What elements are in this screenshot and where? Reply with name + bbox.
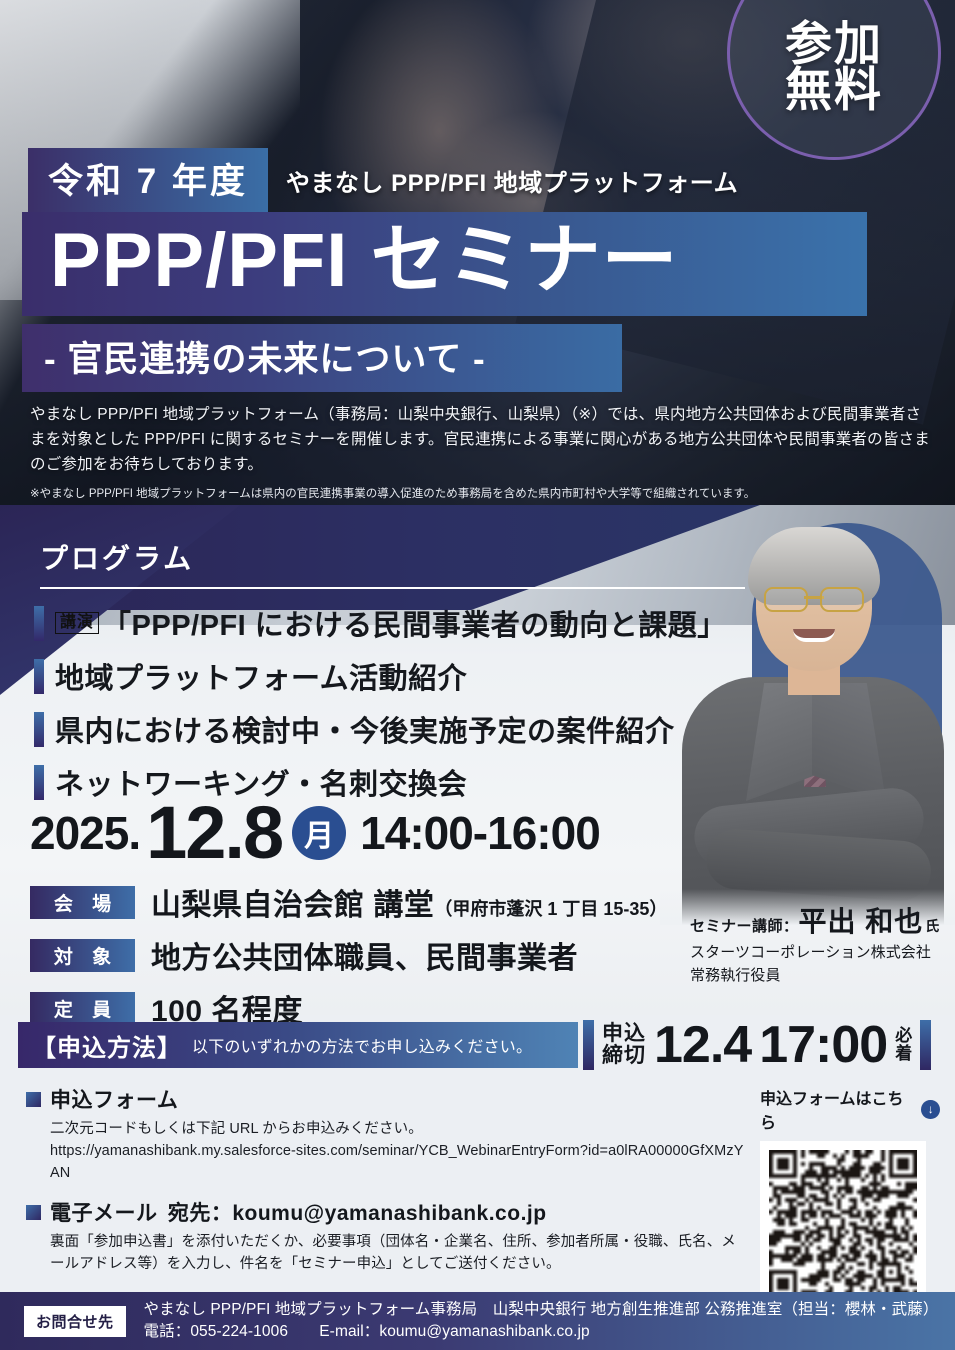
program-item-label: 県内における検討中・今後実施予定の案件紹介 bbox=[55, 708, 675, 750]
intro-block: やまなし PPP/PFI 地域プラットフォーム（事務局：山梨中央銀行、山梨県）（… bbox=[30, 402, 930, 502]
method-body: 二次元コードもしくは下記 URL からお申込みください。 https://yam… bbox=[50, 1119, 746, 1184]
program-item: 県内における検討中・今後実施予定の案件紹介 bbox=[34, 707, 734, 751]
method-description: 二次元コードもしくは下記 URL からお申込みください。 bbox=[50, 1119, 746, 1141]
speaker-name-row: セミナー講師： 平出 和也 氏 bbox=[690, 900, 955, 940]
speaker-name-suffix: 氏 bbox=[925, 916, 939, 936]
speaker-name: 平出 和也 bbox=[799, 900, 924, 940]
era-chip: 令和 7 年度 bbox=[28, 148, 268, 212]
square-bullet-icon bbox=[26, 1205, 41, 1220]
deadline-accent-right bbox=[920, 1020, 931, 1070]
speaker-label: セミナー講師： bbox=[690, 915, 799, 936]
poster-root: 参加 無料 令和 7 年度 やまなし PPP/PFI 地域プラットフォーム PP… bbox=[0, 0, 955, 1350]
glasses-icon bbox=[764, 587, 864, 609]
info-row-audience: 対 象 地方公共団体職員、民間事業者 bbox=[30, 933, 667, 977]
deadline-block: 申込 締切 12.4 17:00 必 着 bbox=[583, 1016, 931, 1074]
bullet-bar bbox=[34, 712, 44, 747]
apply-method-form: 申込フォーム 二次元コードもしくは下記 URL からお申込みください。 http… bbox=[26, 1084, 746, 1184]
program-item: 講演 「PPP/PFI における民間事業者の動向と課題」 bbox=[34, 601, 734, 645]
intro-footnote: ※やまなし PPP/PFI 地域プラットフォームは県内の官民連携事業の導入促進の… bbox=[30, 486, 930, 502]
event-day-of-week: 月 bbox=[292, 806, 346, 860]
info-row-venue: 会 場 山梨県自治会館 講堂（甲府市蓬沢 1 丁目 15-35） bbox=[30, 880, 667, 924]
deadline-time: 17:00 bbox=[759, 1015, 887, 1075]
info-value: 地方公共団体職員、民間事業者 bbox=[151, 933, 578, 977]
organizer-line: やまなし PPP/PFI 地域プラットフォーム bbox=[286, 163, 738, 198]
qr-canvas bbox=[769, 1150, 917, 1298]
qr-label-text: 申込フォームはこちら bbox=[760, 1085, 916, 1133]
contact-line-2: 電話：055-224-1006 E-mail：koumu@yamanashiba… bbox=[144, 1321, 939, 1343]
bullet-bar bbox=[34, 765, 44, 800]
page-title: PPP/PFI セミナー bbox=[22, 212, 867, 316]
speaker-position: 常務執行役員 bbox=[690, 966, 955, 986]
method-title: 電子メール 宛先：koumu@yamanashibank.co.jp bbox=[50, 1197, 547, 1227]
venue-name: 山梨県自治会館 講堂 bbox=[151, 889, 434, 922]
event-datetime: 2025. 12.8 月 14:00-16:00 bbox=[30, 800, 600, 867]
deadline-accent-left bbox=[583, 1020, 594, 1070]
apply-subheading: 以下のいずれかの方法でお申し込みください。 bbox=[192, 1033, 532, 1057]
page-subtitle: - 官民連携の未来について - bbox=[22, 324, 622, 392]
program-item-text: 講演 「PPP/PFI における民間事業者の動向と課題」 bbox=[55, 602, 727, 644]
method-header: 電子メール 宛先：koumu@yamanashibank.co.jp bbox=[26, 1197, 746, 1227]
info-value: 山梨県自治会館 講堂（甲府市蓬沢 1 丁目 15-35） bbox=[151, 880, 667, 924]
contact-chip: お問合せ先 bbox=[24, 1306, 126, 1337]
program-list: 講演 「PPP/PFI における民間事業者の動向と課題」 地域プラットフォーム活… bbox=[34, 601, 734, 813]
intro-paragraph: やまなし PPP/PFI 地域プラットフォーム（事務局：山梨中央銀行、山梨県）（… bbox=[30, 402, 930, 477]
info-label: 対 象 bbox=[30, 939, 135, 972]
speaker-caption: セミナー講師： 平出 和也 氏 スターツコーポレーション株式会社 常務執行役員 bbox=[690, 900, 955, 986]
method-title-label: 電子メール bbox=[50, 1202, 158, 1225]
badge-line-2: 無料 bbox=[785, 63, 883, 116]
program-item-label: 地域プラットフォーム活動紹介 bbox=[55, 655, 467, 697]
method-header: 申込フォーム bbox=[26, 1084, 746, 1114]
free-admission-text: 参加 無料 bbox=[785, 21, 883, 157]
method-body: 裏面「参加申込書」を添付いただくか、必要事項（団体名・企業名、住所、参加者所属・… bbox=[50, 1232, 746, 1276]
info-label: 定 員 bbox=[30, 992, 135, 1025]
bullet-bar bbox=[34, 606, 44, 641]
speaker-smile bbox=[793, 629, 835, 642]
era-row: 令和 7 年度 やまなし PPP/PFI 地域プラットフォーム bbox=[28, 148, 738, 212]
deadline-label-line2: 締切 bbox=[602, 1044, 646, 1067]
event-time: 14:00-16:00 bbox=[360, 806, 600, 860]
apply-method-bar: 【申込方法】 以下のいずれかの方法でお申し込みください。 bbox=[18, 1022, 578, 1068]
program-heading: プログラム bbox=[40, 537, 194, 577]
venue-address: （甲府市蓬沢 1 丁目 15-35） bbox=[434, 899, 667, 919]
deadline-label-line1: 申込 bbox=[602, 1022, 646, 1045]
contact-footer: お問合せ先 やまなし PPP/PFI 地域プラットフォーム事務局 山梨中央銀行 … bbox=[0, 1292, 955, 1350]
program-item-label: 「PPP/PFI における民間事業者の動向と課題」 bbox=[102, 602, 727, 644]
apply-heading: 【申込方法】 bbox=[32, 1028, 182, 1063]
method-title: 申込フォーム bbox=[50, 1084, 178, 1114]
contact-text: やまなし PPP/PFI 地域プラットフォーム事務局 山梨中央銀行 地方創生推進… bbox=[144, 1299, 939, 1344]
deadline-label: 申込 締切 bbox=[602, 1023, 646, 1067]
must-line2: 着 bbox=[895, 1044, 912, 1063]
info-label: 会 場 bbox=[30, 886, 135, 919]
program-item: ネットワーキング・名刺交換会 bbox=[34, 760, 734, 804]
program-divider bbox=[40, 587, 745, 589]
arrow-down-icon: ↓ bbox=[921, 1100, 940, 1119]
qr-block: 申込フォームはこちら ↓ bbox=[760, 1085, 940, 1307]
apply-method-email: 電子メール 宛先：koumu@yamanashibank.co.jp 裏面「参加… bbox=[26, 1197, 746, 1276]
event-month-day: 12.8 bbox=[146, 800, 282, 867]
event-info-table: 会 場 山梨県自治会館 講堂（甲府市蓬沢 1 丁目 15-35） 対 象 地方公… bbox=[30, 880, 667, 1039]
bullet-bar bbox=[34, 659, 44, 694]
must-line1: 必 bbox=[895, 1026, 912, 1045]
qr-label-row: 申込フォームはこちら ↓ bbox=[760, 1085, 940, 1133]
program-item: 地域プラットフォーム活動紹介 bbox=[34, 654, 734, 698]
deadline-must-arrive: 必 着 bbox=[895, 1027, 912, 1063]
deadline-date: 12.4 bbox=[654, 1015, 751, 1075]
badge-line-1: 参加 bbox=[785, 17, 883, 70]
method-email-address[interactable]: 宛先：koumu@yamanashibank.co.jp bbox=[168, 1202, 547, 1225]
apply-form-url[interactable]: https://yamanashibank.my.salesforce-site… bbox=[50, 1141, 746, 1185]
square-bullet-icon bbox=[26, 1092, 41, 1107]
lecture-tag: 講演 bbox=[55, 612, 99, 634]
speaker-company: スターツコーポレーション株式会社 bbox=[690, 943, 955, 963]
qr-code[interactable] bbox=[760, 1141, 926, 1307]
speaker-photo bbox=[660, 505, 955, 925]
contact-line-1: やまなし PPP/PFI 地域プラットフォーム事務局 山梨中央銀行 地方創生推進… bbox=[144, 1299, 939, 1321]
event-year: 2025. bbox=[30, 806, 140, 860]
